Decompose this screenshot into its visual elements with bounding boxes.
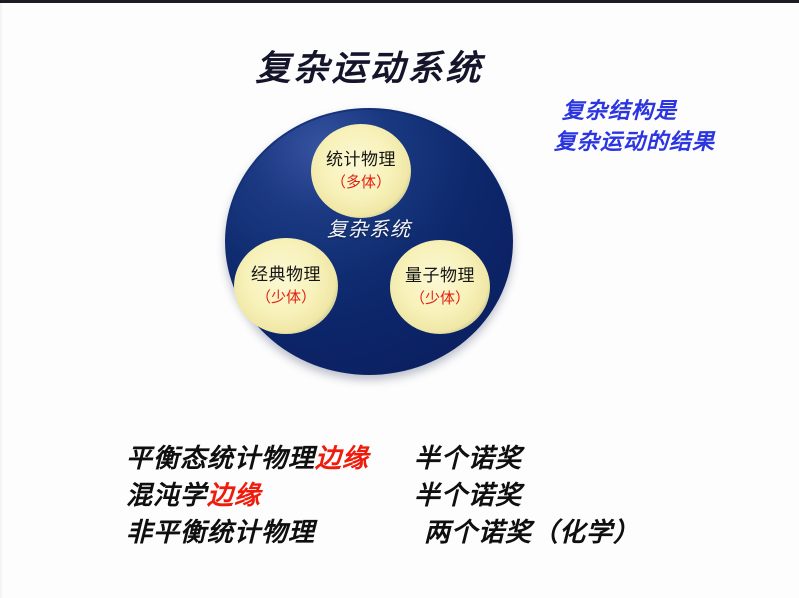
bottom-row-2-left: 混沌学边缘 bbox=[126, 475, 261, 512]
node-classical-physics-sub: （少体） bbox=[256, 288, 316, 306]
bottom-row-2-right: 半个诺奖 bbox=[414, 475, 522, 512]
node-classical-physics-name: 经典物理 bbox=[251, 266, 321, 286]
blue-annotation: 复杂结构是 复杂运动的结果 bbox=[562, 96, 798, 158]
bottom-row-1-left-highlight: 边缘 bbox=[315, 444, 369, 474]
bottom-row-3-left-plain: 非平衡统计物理 bbox=[126, 518, 315, 548]
bottom-text-block: 平衡态统计物理边缘 半个诺奖 混沌学边缘 半个诺奖 非平衡统计物理 两个诺奖（化… bbox=[126, 438, 726, 549]
bottom-row-1-left: 平衡态统计物理边缘 bbox=[126, 438, 369, 475]
node-statistical-physics-name: 统计物理 bbox=[326, 151, 396, 171]
blue-annotation-line-1: 复杂结构是 bbox=[562, 96, 798, 127]
bottom-row-3: 非平衡统计物理 两个诺奖（化学） bbox=[126, 512, 726, 549]
slide-canvas: 复杂运动系统 复杂结构是 复杂运动的结果 复杂系统 统计物理 （多体） 经典物理… bbox=[0, 0, 799, 598]
bottom-row-1: 平衡态统计物理边缘 半个诺奖 bbox=[126, 438, 726, 475]
node-quantum-physics: 量子物理 （少体） bbox=[390, 240, 490, 334]
bottom-row-2: 混沌学边缘 半个诺奖 bbox=[126, 475, 726, 512]
slide-top-border bbox=[0, 0, 799, 3]
node-statistical-physics: 统计物理 （多体） bbox=[311, 124, 411, 218]
slide-left-border bbox=[0, 3, 2, 598]
page-title: 复杂运动系统 bbox=[0, 40, 769, 91]
complex-system-label: 复杂系统 bbox=[225, 213, 513, 242]
bottom-row-1-right: 半个诺奖 bbox=[414, 438, 522, 475]
node-quantum-physics-name: 量子物理 bbox=[405, 267, 475, 287]
bottom-row-3-right: 两个诺奖（化学） bbox=[424, 512, 640, 549]
bottom-row-3-left: 非平衡统计物理 bbox=[126, 512, 315, 549]
node-quantum-physics-sub: （少体） bbox=[410, 289, 470, 307]
bottom-row-1-left-plain: 平衡态统计物理 bbox=[126, 444, 315, 474]
bottom-row-2-left-plain: 混沌学 bbox=[126, 481, 207, 511]
blue-annotation-line-2: 复杂运动的结果 bbox=[554, 127, 798, 158]
node-statistical-physics-sub: （多体） bbox=[331, 173, 391, 191]
node-classical-physics: 经典物理 （少体） bbox=[234, 238, 338, 334]
bottom-row-2-left-highlight: 边缘 bbox=[207, 481, 261, 511]
